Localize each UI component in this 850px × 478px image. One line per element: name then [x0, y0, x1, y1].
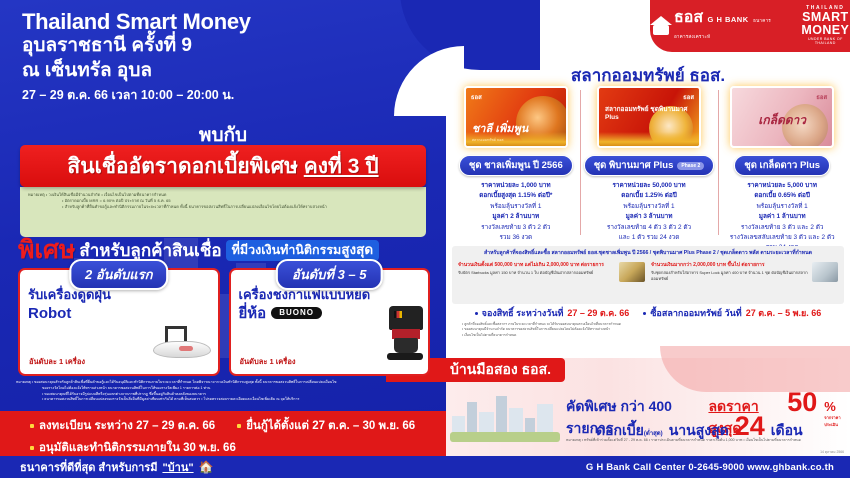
prize-quantity: อันดับละ 1 เครื่อง — [29, 356, 85, 368]
loan-headline-text: สินเชื่ออัตราดอกเบี้ยพิเศษ คงที่ 3 ปี — [67, 150, 378, 183]
detail-line: รางวัลเลขท้าย 4 ตัว 3 ตัว 2 ตัว — [584, 223, 715, 233]
special-subject: สำหรับลูกค้าสินเชื่อ — [79, 242, 221, 259]
super-lock-box-icon — [812, 262, 838, 282]
ghb-wordmark: ธอส G H BANK ธนาคารอาคารสงเคราะห์ — [674, 10, 789, 42]
lottery-ticket-image: ธอส สลากออมทรัพย์ ชุดพิบานมาศ Plus — [597, 86, 701, 148]
series-name: ชุด พิบานมาศ Plus — [594, 158, 674, 173]
prize-rank-badge: อันดับที่ 3 – 5 — [276, 259, 382, 290]
key-date-item: ยื่นกู้ได้ตั้งแต่ 27 ต.ค. – 30 พ.ย. 66 — [237, 417, 415, 435]
detail-line: มูลค่า 3 ล้านบาท — [584, 212, 715, 222]
chip-text-a: ที่มีวงเงินทำนิติกรรม — [232, 243, 342, 257]
prize-card: 2 อันดับแรก รับเครื่องดูดฝุ่น Robot อันด… — [18, 268, 220, 376]
ticket-title: ชาลี เพิ่มพูน — [472, 119, 528, 137]
conditions-heading: สำหรับลูกค้าที่จองสิทธิ์และซื้อ สลากออมท… — [458, 250, 838, 258]
detail-line: รางวัลเลขท้าย 3 ตัว และ 2 ตัว — [722, 223, 842, 233]
ghb-logo: ธอส G H BANK ธนาคารอาคารสงเคราะห์ — [650, 10, 789, 42]
lottery-date-item: จองสิทธิ์ ระหว่างวันที่ 27 – 29 ต.ค. 66 — [475, 306, 630, 320]
date-value: 27 ต.ค. – 5 พ.ย. 66 — [746, 306, 822, 320]
lottery-section-title: สลากออมทรัพย์ ธอส. — [446, 62, 850, 89]
brand-logo-bar: ธอส G H BANK ธนาคารอาคารสงเคราะห์ THAILA… — [650, 0, 850, 52]
detail-line: ดอกเบี้ย 0.65% ต่อปี — [722, 191, 842, 201]
prize-subtitle: Robot — [28, 304, 210, 324]
detail-line: มูลค่า 1 ล้านบาท — [722, 212, 842, 222]
series-name: ชุด เกล็ดดาว Plus — [744, 158, 820, 173]
detail-line: และ 1 ตัว รวม 24 งวด — [584, 233, 715, 243]
key-date-item: ลงทะเบียน ระหว่าง 27 – 29 ต.ค. 66 — [30, 417, 215, 435]
series-name: ชุด ชาลเพิ่มพูน ปี 2566 — [469, 158, 563, 173]
lottery-series-chip: ชุด ชาลเพิ่มพูน ปี 2566 — [459, 155, 573, 176]
lottery-card: ธอส สลากออมทรัพย์ ชุดพิบานมาศ Plus ชุด พ… — [580, 86, 719, 241]
duration-value: 24 — [735, 414, 765, 438]
series-phase-badge: Phase 2 — [677, 162, 704, 170]
key-dates-bar: ลงทะเบียน ระหว่าง 27 – 29 ต.ค. 66 ยื่นกู… — [0, 411, 446, 456]
prize-card: อันดับที่ 3 – 5 เครื่องชงกาแฟแบบหยด ยี่ห… — [229, 268, 431, 376]
discount-value: 50 — [787, 390, 817, 414]
lottery-series-chip: ชุด พิบานมาศ Plus Phase 2 — [584, 155, 715, 176]
detail-line: ดอกเบี้ยสูงสุด 1.15% ต่อปี* — [456, 191, 576, 201]
lottery-disclaimer: • ลูกค้าที่จองสิทธิ์และซื้อสลากฯ ภายในระ… — [452, 322, 844, 338]
second-hand-homes-section: บ้านมือสอง ธอส. คัดพิเศษ กว่า 400 รายการ… — [446, 358, 850, 456]
date-label: ซื้อสลากออมทรัพย์ วันที่ — [650, 306, 741, 320]
second-hand-disclaimer: หมายเหตุ • ทรัพย์ที่เข้าร่วมตั้งแต่วันที… — [566, 438, 841, 443]
detail-line: ราคาหน่วยละ 1,000 บาท — [456, 181, 576, 191]
tsm-line-3: MONEY — [801, 24, 850, 37]
chip-text-b: สูงสุด — [341, 242, 373, 257]
event-title-th: อุบลราชธานี ครั้งที่ 9 — [22, 34, 422, 58]
date-label: จองสิทธิ์ ระหว่างวันที่ — [482, 306, 564, 320]
lottery-key-dates: จองสิทธิ์ ระหว่างวันที่ 27 – 29 ต.ค. 66 … — [452, 306, 844, 320]
lottery-card-list: ธอส ชาลี เพิ่มพูน สลากออมทรัพย์ ธอส. ชุด… — [452, 86, 846, 241]
disclaimer-line: • เงื่อนไขเป็นไปตามที่ธนาคารกำหนด — [452, 333, 844, 338]
prize-quantity: อันดับละ 1 เครื่อง — [240, 356, 296, 368]
key-date-item: อนุมัติและทำนิติกรรมภายใน 30 พ.ย. 66 — [30, 439, 236, 457]
detail-line: รางวัลเลขสลับเลขท้าย 3 ตัว และ 2 ตัว — [722, 233, 842, 243]
tier-amount: จำนวนเงินมากกว่า 2,000,000 บาท ขึ้นไป ต่… — [651, 262, 808, 269]
event-header: Thailand Smart Money อุบลราชธานี ครั้งที… — [22, 10, 422, 105]
contact-footer: G H Bank Call Center 0-2645-9000 www.ghb… — [446, 456, 850, 478]
detail-line: พร้อมลุ้นรางวัลที่ 1 — [722, 202, 842, 212]
loan-note-line: • สำหรับลูกค้าที่ยื่นคำขอกู้และทำนิติกรร… — [28, 204, 418, 210]
event-date-time: 27 – 29 ต.ค. 66 เวลา 10:00 – 20:00 น. — [22, 85, 422, 105]
special-condition-chip: ที่มีวงเงินทำนิติกรรมสูงสุด — [226, 240, 380, 261]
tier-reward: รับบัตร Starbucks มูลค่า 150 บาท จำนวน 1… — [458, 270, 615, 276]
detail-line: ดอกเบี้ย 1.25% ต่อปี — [584, 191, 715, 201]
lottery-ticket-image: ธอส ชาลี เพิ่มพูน สลากออมทรัพย์ ธอส. — [464, 86, 568, 148]
contact-info: G H Bank Call Center 0-2645-9000 www.ghb… — [586, 462, 834, 473]
lottery-details: ราคาหน่วยละ 50,000 บาท ดอกเบี้ย 1.25% ต่… — [584, 181, 715, 243]
greenery-decor — [450, 432, 560, 442]
ticket-title: เกล็ดดาว — [732, 111, 832, 130]
thailand-smart-money-logo: THAILAND SMART MONEY UNDER BANK OF THAIL… — [801, 6, 850, 46]
disclaimer-line: • ธนาคารขอสงวนสิทธิ์ในการเปลี่ยนแปลงของร… — [16, 397, 432, 403]
ghb-name-th: ธอส — [674, 9, 703, 26]
robot-vacuum-icon — [151, 326, 213, 360]
home-icon: 🏠 — [199, 460, 214, 474]
prize-brand-label: ยี่ห้อ — [239, 304, 267, 324]
tagline-emph: "บ้าน" — [162, 458, 193, 476]
ticket-subtitle: สลากออมทรัพย์ ธอส. — [472, 137, 505, 143]
lottery-ticket-image: ธอส เกล็ดดาว — [730, 86, 834, 148]
tier-reward: รับชุดกล่องสำหรับใส่อาหาร Super Lock มูล… — [651, 270, 808, 282]
prize-disclaimer: หมายเหตุ • ของสมนาคุณสำหรับลูกค้าสินเชื่… — [16, 380, 432, 403]
prize-rank-badge: 2 อันดับแรก — [69, 259, 168, 290]
ghb-house-icon — [650, 16, 669, 36]
prize-model: Robot — [28, 304, 71, 324]
publication-date-stamp: 14 ตุลาคม 2566 — [820, 450, 844, 455]
detail-line: พร้อมลุ้นรางวัลที่ 1 — [584, 202, 715, 212]
ticket-logo: ธอส — [471, 92, 482, 102]
key-dates-row: ลงทะเบียน ระหว่าง 27 – 29 ต.ค. 66 ยื่นกู… — [30, 417, 446, 435]
date-value: 27 – 29 ต.ค. 66 — [567, 306, 629, 320]
detail-line: รางวัลเลขท้าย 3 ตัว 2 ตัว — [456, 223, 576, 233]
key-dates-row: อนุมัติและทำนิติกรรมภายใน 30 พ.ย. 66 — [30, 439, 446, 457]
ticket-logo: ธอส — [683, 92, 694, 102]
coffee-maker-icon — [383, 306, 423, 360]
detail-line: พร้อมลุ้นรางวัลที่ 1 — [456, 202, 576, 212]
lottery-details: ราคาหน่วยละ 1,000 บาท ดอกเบี้ยสูงสุด 1.1… — [456, 181, 576, 243]
lottery-card: ธอส ชาลี เพิ่มพูน สลากออมทรัพย์ ธอส. ชุด… — [452, 86, 580, 241]
detail-line: ราคาหน่วยละ 50,000 บาท — [584, 181, 715, 191]
detail-line: ราคาหน่วยละ 5,000 บาท — [722, 181, 842, 191]
loan-headline-banner: สินเชื่ออัตราดอกเบี้ยพิเศษ คงที่ 3 ปี — [20, 145, 426, 187]
prize-cards: 2 อันดับแรก รับเครื่องดูดฝุ่น Robot อันด… — [18, 268, 430, 376]
gold-gradient-decor — [599, 132, 699, 146]
interest-qualifier: (ต่ำสุด) — [644, 431, 663, 437]
conditions-tier: จำนวนเงินตั้งแต่ 500,000 บาท แต่ไม่เกิน … — [458, 262, 645, 282]
interest-text: ดอกเบี้ย — [596, 422, 644, 438]
detail-line: มูลค่า 2 ล้านบาท — [456, 212, 576, 222]
conditions-tier: จำนวนเงินมากกว่า 2,000,000 บาท ขึ้นไป ต่… — [651, 262, 838, 282]
event-venue: ณ เซ็นทรัล อุบล — [22, 59, 422, 83]
loan-headline-main: สินเชื่ออัตราดอกเบี้ยพิเศษ — [67, 155, 303, 178]
loan-headline-emph: คงที่ 3 ปี — [304, 155, 379, 178]
tier-text: จำนวนเงินตั้งแต่ 500,000 บาท แต่ไม่เกิน … — [458, 262, 615, 276]
tier-amount: จำนวนเงินตั้งแต่ 500,000 บาท แต่ไม่เกิน … — [458, 262, 615, 269]
ticket-title: สลากออมทรัพย์ ชุดพิบานมาศ Plus — [605, 104, 699, 121]
lottery-series-chip: ชุด เกล็ดดาว Plus — [734, 155, 830, 176]
lottery-conditions-box: สำหรับลูกค้าที่จองสิทธิ์และซื้อ สลากออมท… — [452, 246, 844, 304]
discount-basis: จากราคาประเมิน — [824, 414, 850, 428]
banner-canvas: Thailand Smart Money อุบลราชธานี ครั้งที… — [0, 0, 850, 478]
discount-unit: %จากราคาประเมิน — [824, 399, 850, 428]
ghb-name-en: G H BANK — [708, 15, 749, 24]
bank-tagline: ธนาคารที่ดีที่สุด สำหรับการมี "บ้าน" 🏠 — [0, 456, 446, 478]
buono-brand-logo: BUONO — [271, 307, 322, 319]
tagline-text: ธนาคารที่ดีที่สุด สำหรับการมี — [20, 458, 157, 476]
unit-symbol: % — [824, 399, 836, 414]
special-label: พิเศษ — [18, 238, 75, 263]
city-illustration — [450, 386, 558, 442]
event-title-en: Thailand Smart Money — [22, 10, 422, 34]
tsm-line-4: UNDER BANK OF THAILAND — [801, 38, 850, 46]
left-promo-panel: Thailand Smart Money อุบลราชธานี ครั้งที… — [0, 0, 446, 478]
detail-line: รวม 36 งวด — [456, 233, 576, 243]
tier-text: จำนวนเงินมากกว่า 2,000,000 บาท ขึ้นไป ต่… — [651, 262, 808, 282]
starbucks-card-icon — [619, 262, 645, 282]
lottery-details: ราคาหน่วยละ 5,000 บาท ดอกเบี้ย 0.65% ต่อ… — [722, 181, 842, 254]
lottery-date-item: ซื้อสลากออมทรัพย์ วันที่ 27 ต.ค. – 5 พ.ย… — [643, 306, 821, 320]
conditions-tiers: จำนวนเงินตั้งแต่ 500,000 บาท แต่ไม่เกิน … — [458, 262, 838, 282]
lottery-card: ธอส เกล็ดดาว ชุด เกล็ดดาว Plus ราคาหน่วย… — [718, 86, 846, 241]
loan-conditions-note: หมายเหตุ • วงเงินให้สินเชื่อมีจำนวนจำกัด… — [20, 187, 426, 237]
pink-swoosh-decor — [660, 346, 850, 392]
ticket-logo: ธอส — [816, 92, 827, 102]
